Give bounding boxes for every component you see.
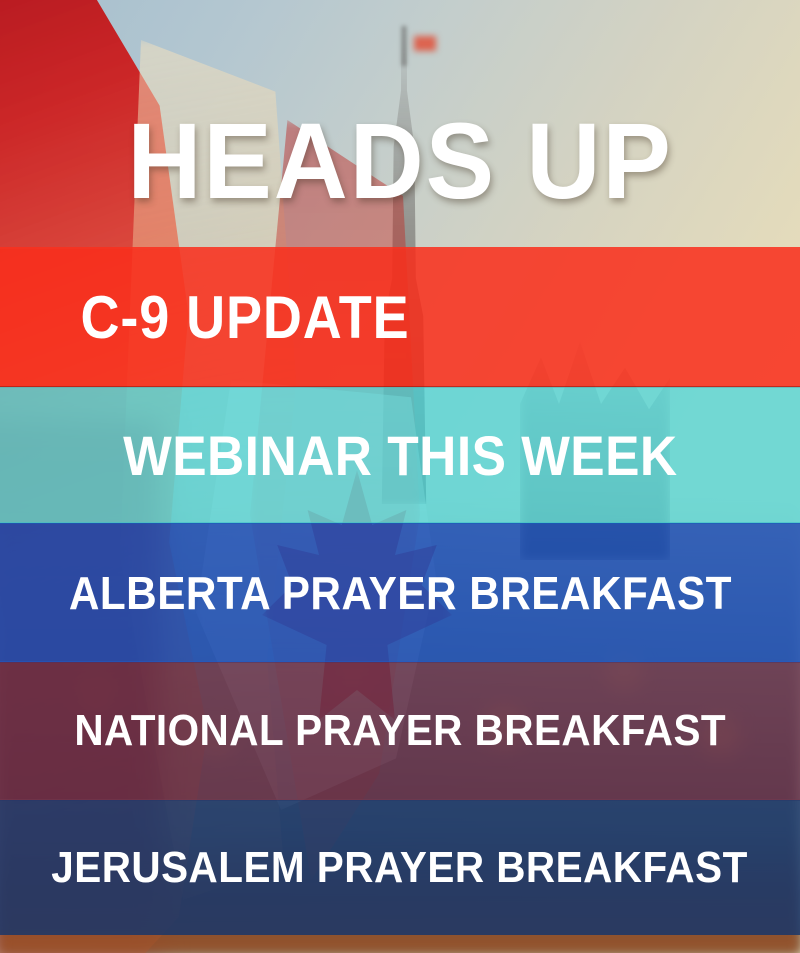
band-label-national-prayer-breakfast: NATIONAL PRAYER BREAKFAST	[74, 706, 726, 756]
headline-band: HEADS UP	[0, 0, 800, 247]
band-national-prayer-breakfast[interactable]: NATIONAL PRAYER BREAKFAST	[0, 662, 800, 800]
band-label-c9-update: C-9 UPDATE	[81, 283, 410, 352]
page-title: HEADS UP	[127, 107, 672, 215]
band-label-webinar-this-week: WEBINAR THIS WEEK	[123, 423, 678, 488]
band-webinar-this-week[interactable]: WEBINAR THIS WEEK	[0, 387, 800, 523]
announcement-poster: HEADS UP C-9 UPDATE WEBINAR THIS WEEK AL…	[0, 0, 800, 953]
band-alberta-prayer-breakfast[interactable]: ALBERTA PRAYER BREAKFAST	[0, 523, 800, 662]
band-label-alberta-prayer-breakfast: ALBERTA PRAYER BREAKFAST	[68, 566, 731, 620]
band-jerusalem-prayer-breakfast[interactable]: JERUSALEM PRAYER BREAKFAST	[0, 800, 800, 935]
band-label-jerusalem-prayer-breakfast: JERUSALEM PRAYER BREAKFAST	[52, 843, 748, 893]
band-c9-update[interactable]: C-9 UPDATE	[0, 247, 800, 387]
